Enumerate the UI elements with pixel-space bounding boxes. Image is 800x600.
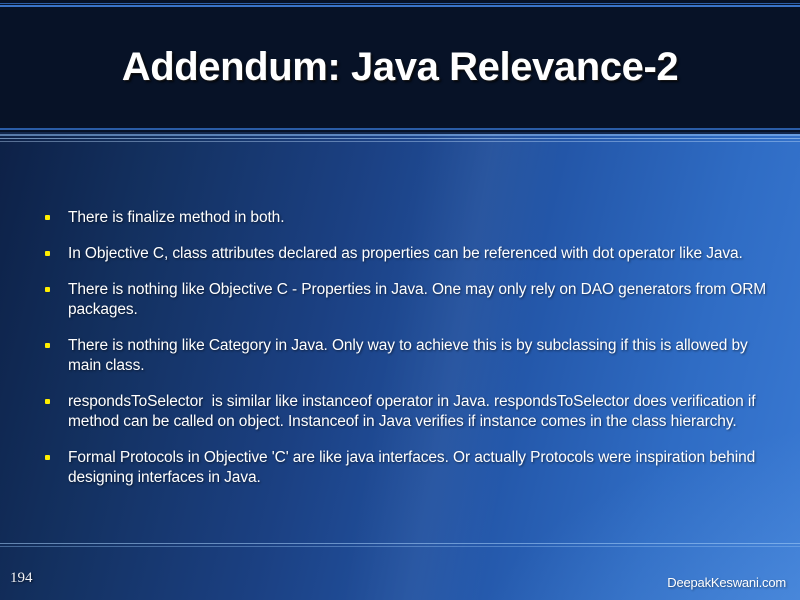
list-item-text: There is finalize method in both. [68,208,768,228]
bullet-list: There is finalize method in both. In Obj… [38,208,768,504]
bullet-marker [38,336,68,348]
list-item: There is finalize method in both. [38,208,768,228]
bullet-marker [38,392,68,404]
slide: Addendum: Java Relevance-2 There is fina… [0,0,800,600]
title-bottom-rule-outer [0,128,800,130]
list-item-text: In Objective C, class attributes declare… [68,244,768,264]
bullet-dot-icon [45,343,50,348]
bullet-dot-icon [45,287,50,292]
list-item: There is nothing like Category in Java. … [38,336,768,376]
list-item: respondsToSelector is similar like insta… [38,392,768,432]
bullet-dot-icon [45,399,50,404]
list-item: There is nothing like Objective C - Prop… [38,280,768,320]
page-title: Addendum: Java Relevance-2 [0,0,800,134]
list-item-text: respondsToSelector is similar like insta… [68,392,768,432]
slide-body: There is finalize method in both. In Obj… [0,134,800,600]
page-number: 194 [10,570,33,587]
body-top-rule-2 [0,138,800,139]
body-top-rule-1 [0,134,800,136]
bullet-dot-icon [45,455,50,460]
footer-divider-lower [0,546,800,547]
list-item: Formal Protocols in Objective 'C' are li… [38,448,768,488]
bullet-marker [38,208,68,220]
bullet-marker [38,244,68,256]
list-item-text: There is nothing like Category in Java. … [68,336,768,376]
bullet-dot-icon [45,215,50,220]
list-item-text: Formal Protocols in Objective 'C' are li… [68,448,768,488]
bullet-dot-icon [45,251,50,256]
footer-divider-upper [0,543,800,544]
body-top-rule-3 [0,141,800,142]
list-item-text: There is nothing like Objective C - Prop… [68,280,768,320]
site-credit: DeepakKeswani.com [667,575,786,590]
list-item: In Objective C, class attributes declare… [38,244,768,264]
bullet-marker [38,448,68,460]
bullet-marker [38,280,68,292]
slide-title-bar: Addendum: Java Relevance-2 [0,0,800,134]
